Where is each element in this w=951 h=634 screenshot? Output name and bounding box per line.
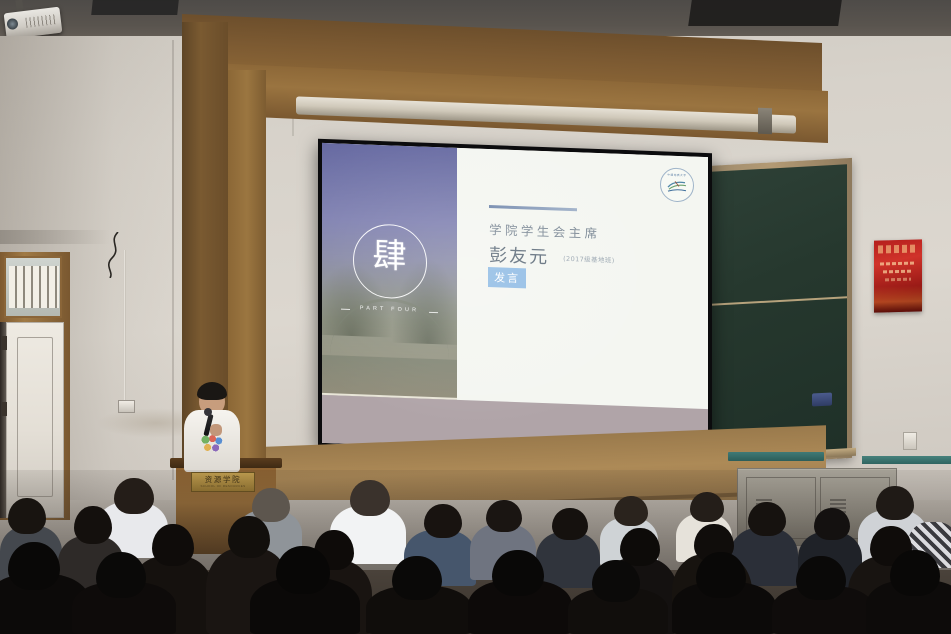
poster-line-3 bbox=[885, 278, 911, 282]
desk-surface-left bbox=[728, 452, 824, 461]
poster-heading-text bbox=[878, 244, 918, 253]
door-hinge-top bbox=[2, 336, 7, 350]
title-rule bbox=[489, 205, 577, 211]
presentation-slide: 肆 PART FOUR 中国地质大学 bbox=[322, 143, 708, 457]
audience-head bbox=[814, 508, 850, 540]
board-eraser[interactable] bbox=[812, 392, 832, 406]
electrical-conduit bbox=[123, 250, 126, 405]
projector-lens-icon bbox=[6, 18, 18, 30]
hanging-wire bbox=[88, 232, 128, 278]
chalkboard bbox=[706, 158, 852, 466]
section-number: 肆 bbox=[373, 239, 407, 274]
audience-head bbox=[276, 546, 330, 594]
light-switch[interactable] bbox=[903, 432, 917, 450]
transom-window bbox=[4, 256, 62, 318]
audience-head bbox=[8, 498, 46, 534]
slide-image-panel: 肆 PART FOUR bbox=[322, 143, 457, 400]
poster-line-2 bbox=[883, 270, 913, 274]
audience-head bbox=[114, 478, 154, 514]
university-emblem-icon: 中国地质大学 bbox=[660, 167, 694, 202]
microphone-head-icon bbox=[204, 408, 212, 416]
ceiling-vent-tile-secondary bbox=[91, 0, 179, 15]
audience-head bbox=[492, 550, 544, 596]
speaker-name: 彭友元 bbox=[489, 241, 549, 269]
lecture-hall-scene: 肆 PART FOUR 中国地质大学 bbox=[0, 0, 951, 634]
audience-head bbox=[552, 508, 588, 540]
audience-head bbox=[252, 488, 290, 522]
audience-head bbox=[876, 486, 914, 520]
speaker-hair bbox=[197, 382, 227, 400]
audience-head bbox=[486, 500, 522, 532]
ceiling-vent-tile bbox=[688, 0, 842, 26]
audience-head bbox=[424, 504, 462, 538]
door-hinge-bottom bbox=[2, 402, 7, 416]
audience-head bbox=[228, 516, 270, 558]
audience-area bbox=[0, 470, 951, 634]
poster-line-1 bbox=[880, 262, 916, 266]
audience-head bbox=[592, 560, 640, 602]
audience-head bbox=[890, 550, 940, 596]
audience-head bbox=[8, 542, 60, 590]
audience-head bbox=[690, 492, 724, 522]
propaganda-poster bbox=[874, 239, 922, 312]
audience-head bbox=[96, 552, 146, 598]
window-grille bbox=[9, 266, 59, 308]
chalkboard-divider bbox=[711, 296, 847, 306]
audience-head bbox=[152, 524, 194, 566]
slide-text-panel: 中国地质大学 学院学生会主席 彭友元 (2017级基地班) 发言 bbox=[457, 148, 708, 409]
wall-outlet-box[interactable] bbox=[118, 400, 135, 413]
emblem-glyph-icon bbox=[666, 179, 688, 193]
desk-surface-right bbox=[862, 456, 951, 464]
audience-head bbox=[74, 506, 112, 544]
audience-head bbox=[392, 556, 442, 600]
speaker-role-title: 学院学生会主席 bbox=[489, 219, 600, 242]
audience-head bbox=[748, 502, 786, 536]
poster-artwork bbox=[874, 285, 922, 312]
screen-roller-cap bbox=[758, 108, 772, 134]
audience-head bbox=[696, 552, 746, 598]
screen-surface: 肆 PART FOUR 中国地质大学 bbox=[322, 143, 708, 457]
audience-head bbox=[620, 528, 660, 566]
audience-head bbox=[796, 556, 846, 600]
audience-head bbox=[614, 496, 648, 526]
audience-body bbox=[536, 532, 600, 588]
chalkboard-surface bbox=[711, 164, 847, 459]
projection-screen[interactable]: 肆 PART FOUR 中国地质大学 bbox=[318, 139, 712, 461]
audience-head bbox=[350, 480, 390, 516]
speaker-hand bbox=[210, 424, 222, 436]
speaker-class-note: (2017级基地班) bbox=[563, 253, 615, 265]
action-badge: 发言 bbox=[488, 267, 526, 288]
projector-vents bbox=[25, 14, 56, 28]
